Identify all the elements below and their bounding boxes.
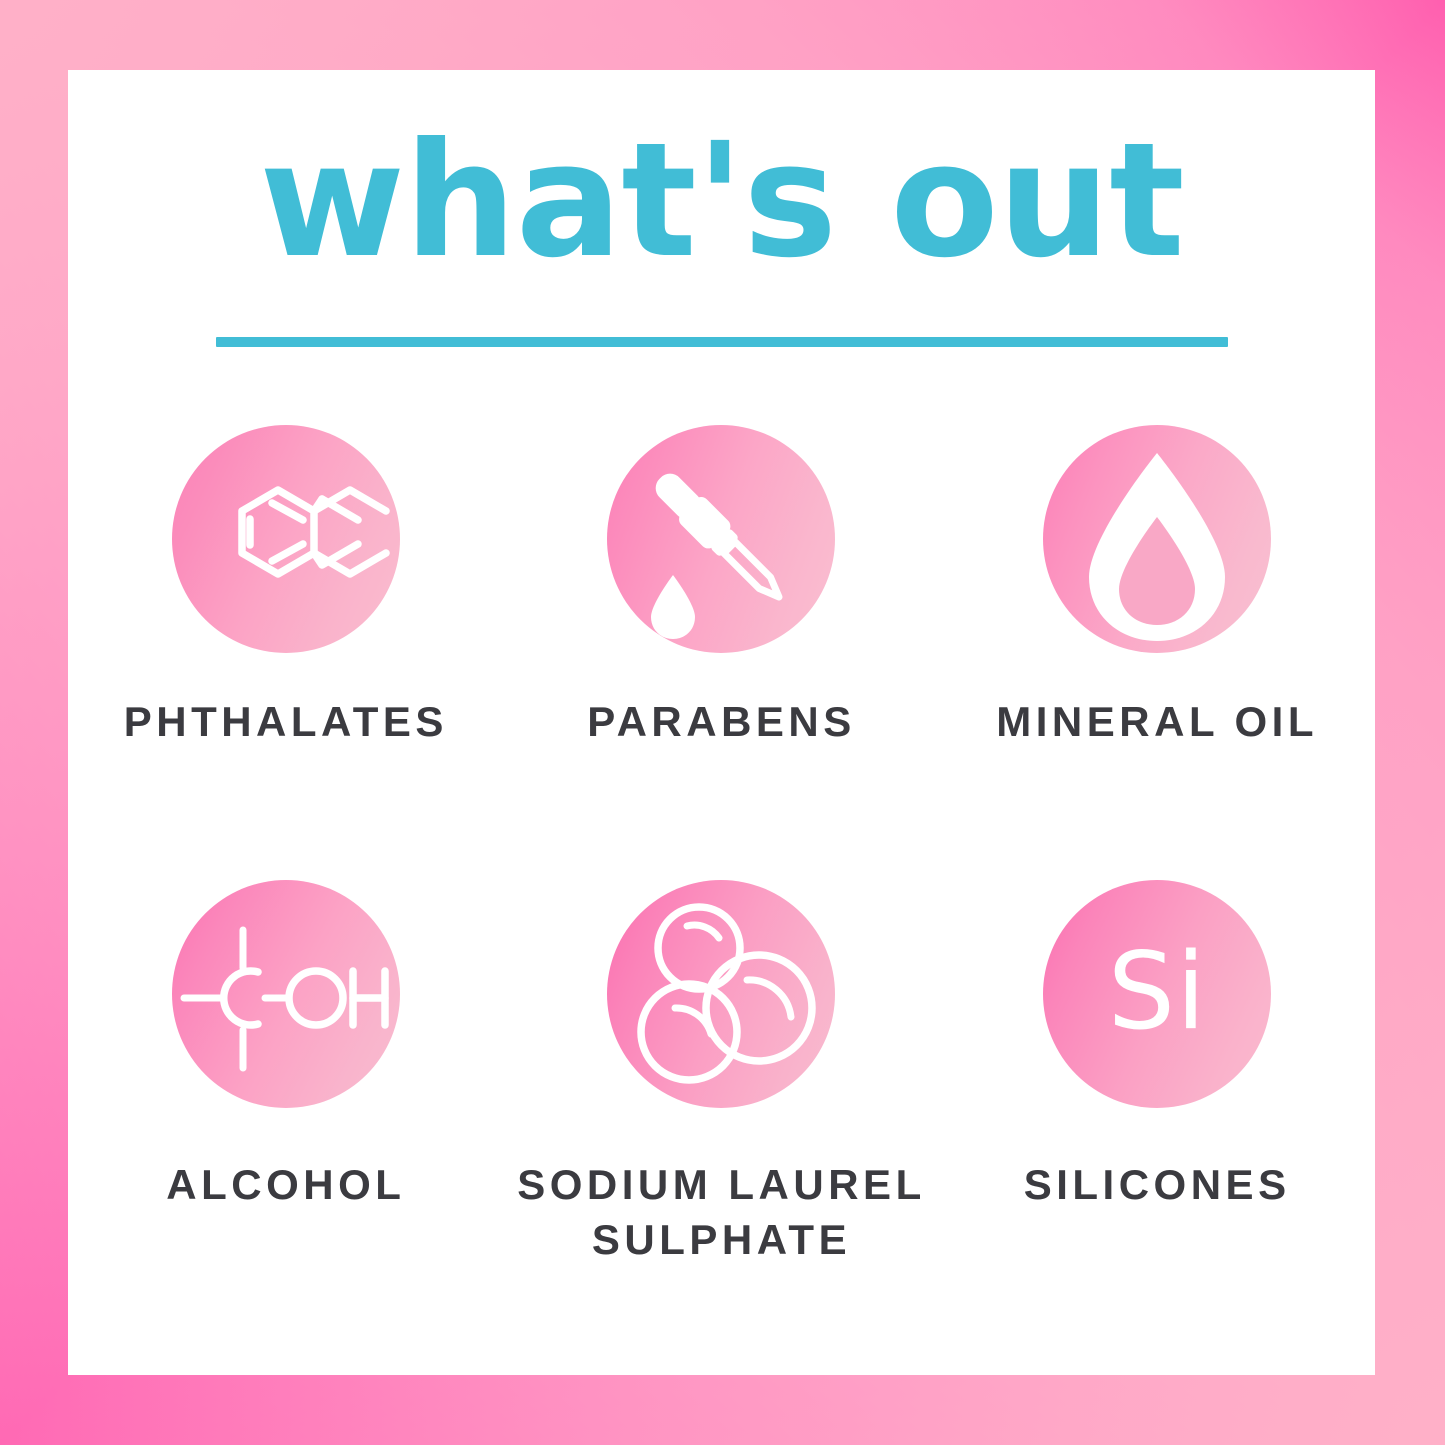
ingredient-label: MINERAL OIL <box>996 695 1318 750</box>
ingredient-label: SILICONES <box>1024 1158 1291 1213</box>
badge-alcohol <box>172 880 400 1108</box>
droplet-icon <box>1043 425 1271 653</box>
silicon-symbol-icon: Si <box>1108 939 1207 1045</box>
badge-parabens <box>607 425 835 653</box>
ingredient-label: PARABENS <box>587 695 856 750</box>
ingredient-item-alcohol[interactable]: ALCOHOL <box>68 880 504 1335</box>
poster-frame: what's out <box>0 0 1445 1445</box>
badge-phthalates <box>172 425 400 653</box>
badge-sls <box>607 880 835 1108</box>
molecule-benzene-icon <box>172 425 400 653</box>
ingredient-item-mineral-oil[interactable]: MINERAL OIL <box>939 425 1375 880</box>
ingredient-item-phthalates[interactable]: PHTHALATES <box>68 425 504 880</box>
alcohol-formula-icon <box>172 880 400 1108</box>
ingredient-grid: PHTHALATES <box>68 425 1375 1335</box>
ingredient-label: SODIUM LAUREL SULPHATE <box>506 1158 936 1267</box>
ingredient-item-parabens[interactable]: PARABENS <box>504 425 940 880</box>
header: what's out <box>68 70 1375 347</box>
content-card: what's out <box>68 70 1375 1375</box>
ingredient-label: ALCOHOL <box>166 1158 405 1213</box>
title-divider <box>216 337 1228 347</box>
foam-bubbles-icon <box>607 880 835 1108</box>
eyedropper-icon <box>607 425 835 653</box>
ingredient-item-sls[interactable]: SODIUM LAUREL SULPHATE <box>504 880 940 1335</box>
page-title: what's out <box>68 70 1375 280</box>
ingredient-item-silicones[interactable]: Si SILICONES <box>939 880 1375 1335</box>
badge-mineral-oil <box>1043 425 1271 653</box>
badge-silicones: Si <box>1043 880 1271 1108</box>
ingredient-label: PHTHALATES <box>124 695 448 750</box>
